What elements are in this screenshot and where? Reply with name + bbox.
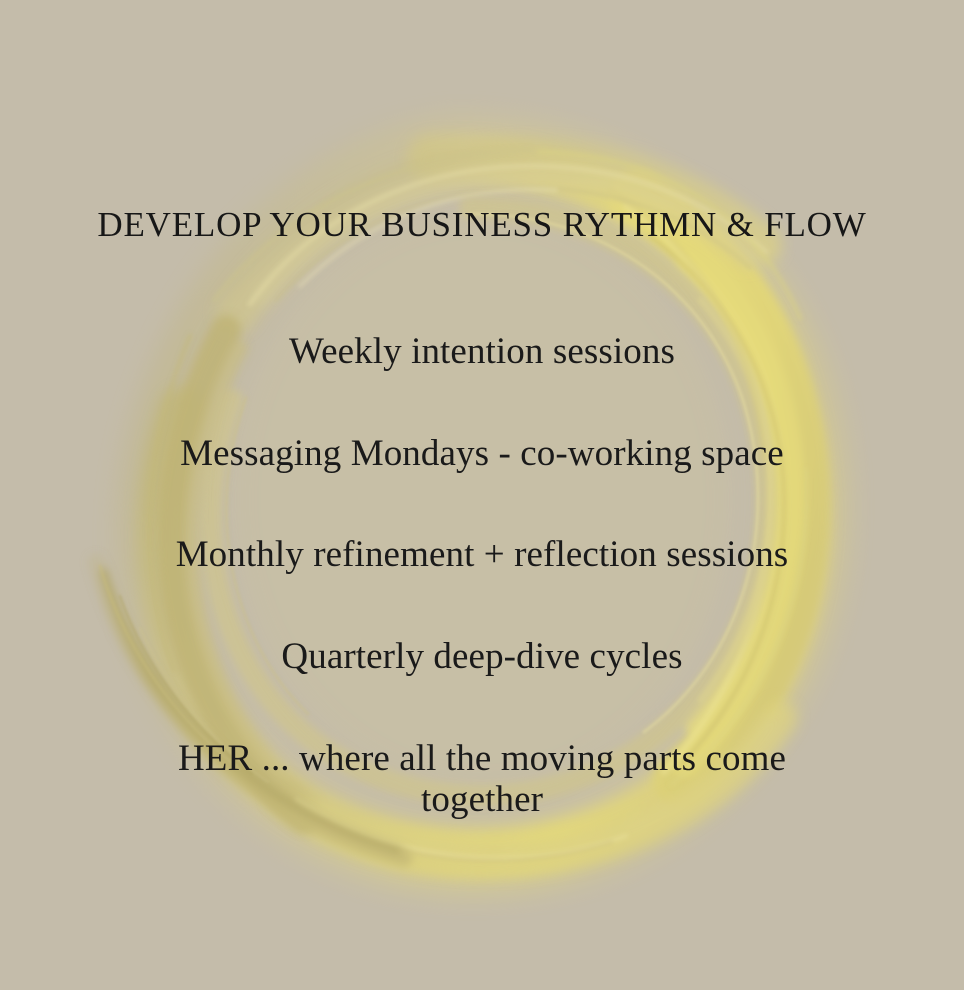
offer-line-1: Weekly intention sessions: [0, 331, 964, 372]
poster-canvas: DEVELOP YOUR BUSINESS RYTHMN & FLOW Week…: [0, 0, 964, 990]
offer-line-5: HER ... where all the moving parts come …: [0, 738, 964, 821]
offer-line-2: Messaging Mondays - co-working space: [0, 433, 964, 474]
poster-text-layer: DEVELOP YOUR BUSINESS RYTHMN & FLOW Week…: [0, 0, 964, 990]
offer-line-5-text: HER ... where all the moving parts come …: [162, 738, 802, 821]
offer-line-3: Monthly refinement + reflection sessions: [0, 534, 964, 575]
offer-line-4: Quarterly deep-dive cycles: [0, 636, 964, 677]
page-title: DEVELOP YOUR BUSINESS RYTHMN & FLOW: [0, 206, 964, 243]
